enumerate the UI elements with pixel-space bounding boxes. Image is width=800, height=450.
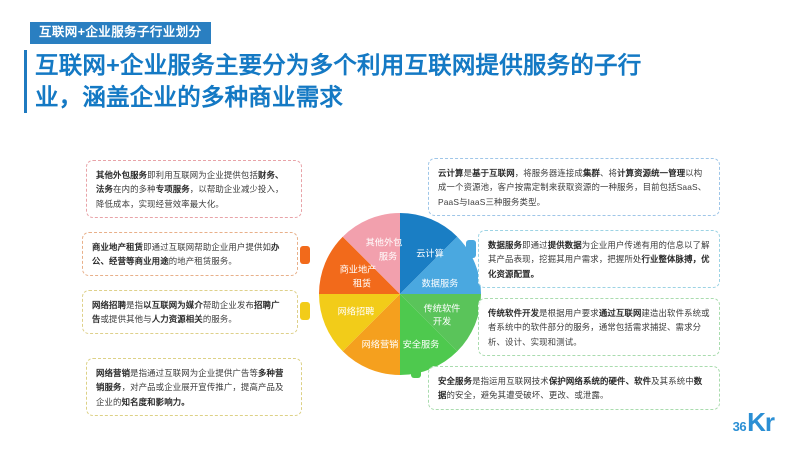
callout-cloud-t1: 是 <box>464 168 473 178</box>
callout-recruit-b3: 人力资源相关 <box>152 314 203 324</box>
callout-recruit-t3: 或提供其他与 <box>101 314 152 324</box>
callout-outsourcing-lead: 其他外包服务 <box>96 170 147 180</box>
connector-tab-security <box>411 360 421 378</box>
callout-security-t3: 的安全，避免其遭受破坏、更改、或泄露。 <box>447 390 609 400</box>
connector-tab-realestate <box>300 246 310 264</box>
pie-label-realestate-2: 租赁 <box>353 277 371 288</box>
callout-recruit-b1: 以互联网为媒介 <box>143 300 203 310</box>
callout-security-lead: 安全服务 <box>438 376 472 386</box>
pie-label-software-1: 传统软件 <box>424 302 461 313</box>
callout-security-t2: 及其系统中 <box>651 376 694 386</box>
slide-canvas: 互联网+企业服务子行业划分 互联网+企业服务主要分为多个利用互联网提供服务的子行… <box>0 0 800 450</box>
callout-software-b1: 通过互联网 <box>599 308 642 318</box>
callout-marketing-b2: 知名度和影响力。 <box>122 397 190 407</box>
pie-label-marketing: 网络营销 <box>362 338 399 349</box>
callout-recruit: 网络招聘是指以互联网为媒介帮助企业发布招聘广告或提供其他与人力资源相关的服务。 <box>82 290 298 334</box>
callout-recruit-lead: 网络招聘 <box>92 300 126 310</box>
pie-label-outsourcing-1: 其他外包 <box>366 236 403 247</box>
callout-realestate-t1: 即通过互联网帮助企业用户提供如 <box>143 242 271 252</box>
connector-tab-software <box>466 306 476 324</box>
callout-security: 安全服务是指运用互联网技术保护网络系统的硬件、软件及其系统中数据的安全，避免其遭… <box>428 366 720 410</box>
callout-outsourcing-t2: 在内的多种 <box>113 184 156 194</box>
callout-outsourcing: 其他外包服务即利用互联网为企业提供包括财务、法务在内的多种专项服务，以帮助企业减… <box>86 160 302 218</box>
page-title: 互联网+企业服务主要分为多个利用互联网提供服务的子行业，涵盖企业的多种商业需求 <box>24 50 684 113</box>
callout-security-b1: 保护网络系统的硬件、软件 <box>549 376 651 386</box>
pie-label-data: 数据服务 <box>422 277 459 288</box>
callout-outsourcing-b2: 专项服务 <box>156 184 190 194</box>
callout-software: 传统软件开发是根据用户要求通过互联网建造出软件系统或者系统中的软件部分的服务，通… <box>478 298 720 356</box>
callout-marketing-t1: 是指通过互联网为企业提供广告等 <box>130 368 258 378</box>
brand-logo-number: 36 <box>733 419 746 434</box>
connector-tab-cloud <box>411 223 421 241</box>
callout-outsourcing-t1: 即利用互联网为企业提供包括 <box>147 170 258 180</box>
callout-cloud: 云计算是基于互联网，将服务器连接成集群、将计算资源统一管理以构成一个资源池，客户… <box>428 158 720 216</box>
callout-recruit-t2: 帮助企业发布 <box>203 300 254 310</box>
pie-label-realestate-1: 商业地产 <box>340 263 377 274</box>
callout-realestate-lead: 商业地产租赁 <box>92 242 143 252</box>
callout-software-t1: 是根据用户要求 <box>539 308 599 318</box>
callout-marketing: 网络营销是指通过互联网为企业提供广告等多种营销服务，对产品或企业展开宣传推广，提… <box>86 358 302 416</box>
callout-realestate: 商业地产租赁即通过互联网帮助企业用户提供如办公、经营等商业用途的地产租赁服务。 <box>82 232 298 276</box>
callout-recruit-t1: 是指 <box>126 300 143 310</box>
pie-label-security: 安全服务 <box>403 338 440 349</box>
callout-realestate-t2: 的地产租赁服务。 <box>169 256 237 266</box>
callout-recruit-t4: 的服务。 <box>203 314 237 324</box>
callout-cloud-b3: 计算资源统一管理 <box>617 168 685 178</box>
pie-label-recruit: 网络招聘 <box>338 305 375 316</box>
brand-logo-36kr: 36Kr <box>733 411 774 434</box>
callout-cloud-t2: ，将服务器连接成 <box>515 168 583 178</box>
pie-chart-svg: 云计算 数据服务 传统软件 开发 安全服务 网络营销 网络招聘 商业地产 租赁 … <box>318 212 482 376</box>
callout-cloud-b2: 集群 <box>583 168 600 178</box>
connector-tab-recruit <box>300 302 310 320</box>
callout-data: 数据服务即通过提供数据为企业用户传递有用的信息以了解其产品表现，挖掘其用户需求，… <box>478 230 720 288</box>
connector-tab-data <box>466 240 476 258</box>
pie-chart: 云计算 数据服务 传统软件 开发 安全服务 网络营销 网络招聘 商业地产 租赁 … <box>318 212 482 376</box>
callout-data-lead: 数据服务 <box>488 240 522 250</box>
pie-label-cloud: 云计算 <box>416 247 444 258</box>
callout-cloud-t3: 、将 <box>600 168 617 178</box>
callout-cloud-b1: 基于互联网 <box>472 168 515 178</box>
page-title-text: 互联网+企业服务主要分为多个利用互联网提供服务的子行业，涵盖企业的多种商业需求 <box>35 50 684 113</box>
brand-logo-kr: Kr <box>747 411 774 434</box>
callout-security-t1: 是指运用互联网技术 <box>472 376 549 386</box>
callout-marketing-lead: 网络营销 <box>96 368 130 378</box>
callout-data-b1: 提供数据 <box>548 240 582 250</box>
section-badge: 互联网+企业服务子行业划分 <box>30 22 211 44</box>
callout-cloud-lead: 云计算 <box>438 168 464 178</box>
callout-software-lead: 传统软件开发 <box>488 308 539 318</box>
pie-label-software-2: 开发 <box>433 315 451 326</box>
callout-data-t1: 即通过 <box>522 240 548 250</box>
pie-label-outsourcing-2: 服务 <box>379 250 397 261</box>
